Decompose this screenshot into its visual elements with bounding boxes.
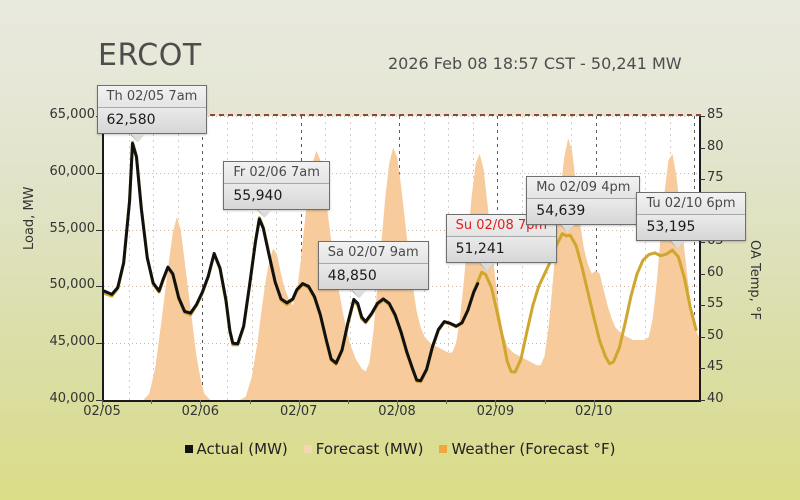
legend-item[interactable]: Actual (MW) [185, 440, 288, 458]
x-tick-mark [397, 400, 398, 407]
callout-value: 53,195 [637, 215, 744, 240]
y2-tick-label: 80 [707, 139, 724, 154]
callout-value: 62,580 [98, 108, 207, 133]
callout-box: Tu 02/10 6pm53,195 [636, 192, 745, 241]
legend-item[interactable]: Weather (Forecast °F) [439, 440, 615, 458]
x-tick-mark-minor [250, 400, 251, 404]
y2-tick-mark [699, 368, 705, 369]
y2-tick-label: 75 [707, 170, 724, 185]
y2-tick-label: 85 [707, 107, 724, 122]
callout-th-0205[interactable]: Th 02/05 7am62,580 [97, 85, 208, 134]
x-tick-mark [102, 400, 103, 407]
callout-box: Mo 02/09 4pm54,639 [526, 176, 640, 225]
callout-box: Sa 02/07 9am48,850 [318, 241, 429, 290]
y-tick-mark [96, 230, 102, 231]
x-tick-mark-minor [446, 400, 447, 404]
x-tick-mark-minor [151, 400, 152, 404]
y2-tick-mark [699, 337, 705, 338]
callout-value: 48,850 [319, 264, 428, 289]
callout-header: Sa 02/07 9am [319, 242, 428, 264]
x-tick-mark [299, 400, 300, 407]
y-tick-mark [96, 343, 102, 344]
y2-tick-mark [699, 242, 705, 243]
chart-legend: Actual (MW)Forecast (MW)Weather (Forecas… [0, 440, 800, 458]
legend-swatch-icon [304, 445, 312, 453]
callout-tu-0210[interactable]: Tu 02/10 6pm53,195 [636, 192, 745, 241]
callout-header: Mo 02/09 4pm [527, 177, 639, 199]
callout-value: 51,241 [447, 237, 556, 262]
legend-label: Forecast (MW) [316, 440, 424, 458]
legend-label: Actual (MW) [197, 440, 288, 458]
callout-header: Tu 02/10 6pm [637, 193, 744, 215]
y-tick-label: 45,000 [50, 334, 96, 349]
legend-label: Weather (Forecast °F) [451, 440, 615, 458]
x-tick-mark-minor [348, 400, 349, 404]
y-tick-label: 55,000 [50, 221, 96, 236]
callout-box: Th 02/05 7am62,580 [97, 85, 208, 134]
y2-tick-label: 45 [707, 359, 724, 374]
callout-fr-0206[interactable]: Fr 02/06 7am55,940 [223, 161, 330, 210]
y-axis-title: Load, MW [22, 186, 37, 250]
y-tick-mark [96, 286, 102, 287]
callout-box: Fr 02/06 7am55,940 [223, 161, 330, 210]
callout-mo-0209[interactable]: Mo 02/09 4pm54,639 [526, 176, 640, 225]
y2-tick-label: 40 [707, 391, 724, 406]
callout-header: Fr 02/06 7am [224, 162, 329, 184]
x-tick-mark-minor [545, 400, 546, 404]
x-tick-mark [495, 400, 496, 407]
x-tick-mark [200, 400, 201, 407]
callout-value: 54,639 [527, 199, 639, 224]
y-tick-mark [96, 173, 102, 174]
y2-tick-label: 55 [707, 296, 724, 311]
callout-header: Th 02/05 7am [98, 86, 207, 108]
y2-axis-title: OA Temp, °F [747, 240, 762, 320]
legend-swatch-icon [439, 445, 447, 453]
y2-tick-mark [699, 305, 705, 306]
callout-sa-0207[interactable]: Sa 02/07 9am48,850 [318, 241, 429, 290]
y-tick-label: 50,000 [50, 277, 96, 292]
y2-tick-mark [699, 179, 705, 180]
callout-value: 55,940 [224, 184, 329, 209]
legend-swatch-icon [185, 445, 193, 453]
page-title: ERCOT [98, 38, 202, 73]
x-tick-mark [594, 400, 595, 407]
chart-subtitle: 2026 Feb 08 18:57 CST - 50,241 MW [388, 54, 682, 73]
chart-screenshot: ERCOT 2026 Feb 08 18:57 CST - 50,241 MW … [0, 0, 800, 500]
y2-tick-mark [699, 274, 705, 275]
y-tick-label: 65,000 [50, 107, 96, 122]
y2-tick-mark [699, 116, 705, 117]
y-tick-label: 60,000 [50, 164, 96, 179]
y2-tick-mark [699, 148, 705, 149]
legend-item[interactable]: Forecast (MW) [304, 440, 424, 458]
y2-tick-mark [699, 400, 705, 401]
y2-tick-label: 50 [707, 328, 724, 343]
y2-tick-label: 60 [707, 265, 724, 280]
